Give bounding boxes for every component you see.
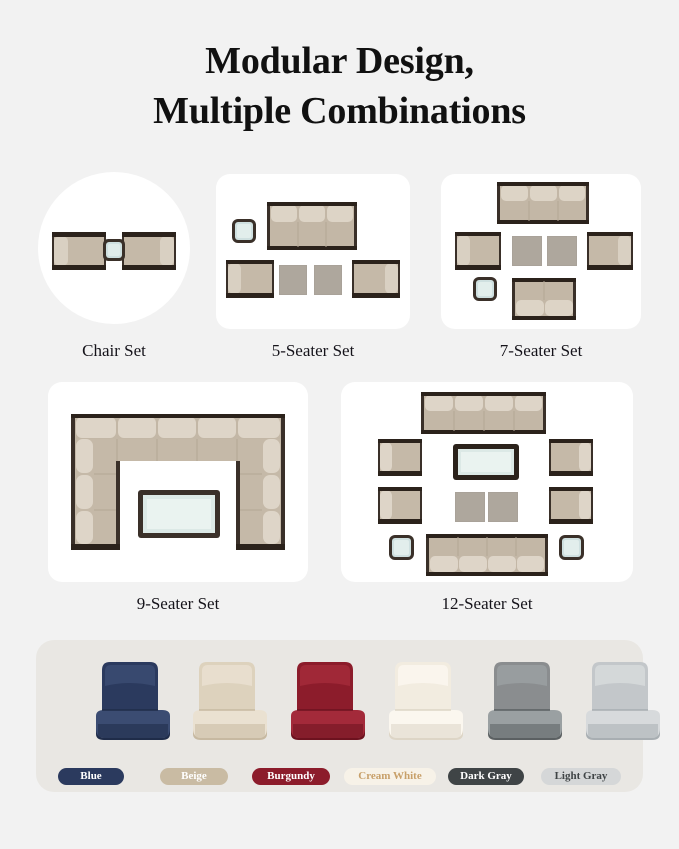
chair-left xyxy=(455,232,501,270)
config-card-12-seater[interactable] xyxy=(341,382,633,582)
ottoman-right xyxy=(314,265,342,295)
coffee-table-glass xyxy=(138,490,220,538)
config-label-12-seater: 12-Seater Set xyxy=(341,594,633,614)
config-card-9-seater[interactable] xyxy=(48,382,308,582)
seven-seater-diagram xyxy=(441,174,641,329)
cushion-label-light-gray[interactable]: Light Gray xyxy=(541,768,621,785)
chair-left xyxy=(52,232,106,270)
chair-right xyxy=(587,232,633,270)
chair-right-upper xyxy=(549,439,593,476)
ottoman-left xyxy=(512,236,542,266)
ottoman-right xyxy=(488,492,518,522)
cushion-label-dark-gray[interactable]: Dark Gray xyxy=(448,768,524,785)
cushion-swatch-beige[interactable] xyxy=(181,658,277,748)
twelve-seater-diagram xyxy=(341,382,633,582)
coffee-table-glass xyxy=(453,444,519,480)
sofa-two-seat-bottom xyxy=(512,278,576,320)
cushion-swatch-light-gray[interactable] xyxy=(574,658,670,748)
ottoman-left xyxy=(455,492,485,522)
config-label-7-seater: 7-Seater Set xyxy=(441,341,641,361)
nine-seater-diagram xyxy=(48,382,308,582)
page-title-line-1: Modular Design, xyxy=(0,36,679,86)
cushion-chair-burgundy xyxy=(279,658,375,748)
chair-right-lower xyxy=(549,487,593,524)
cushion-chair-dark-gray xyxy=(476,658,572,748)
cushion-label-burgundy[interactable]: Burgundy xyxy=(252,768,330,785)
side-table-bottom-left xyxy=(389,535,414,560)
page-title: Modular Design, Multiple Combinations xyxy=(0,36,679,136)
side-table-top-left xyxy=(232,219,256,243)
chair-set-diagram xyxy=(38,172,190,324)
chair-left-lower xyxy=(378,487,422,524)
cushion-chair-beige xyxy=(181,658,277,748)
config-label-5-seater: 5-Seater Set xyxy=(216,341,410,361)
config-card-5-seater[interactable] xyxy=(216,174,410,329)
sofa-four-seat-top xyxy=(421,392,546,434)
config-label-9-seater: 9-Seater Set xyxy=(48,594,308,614)
chair-bottom-left xyxy=(226,260,274,298)
config-card-7-seater[interactable] xyxy=(441,174,641,329)
sofa-three-seat-top xyxy=(497,182,589,224)
chair-bottom-right xyxy=(352,260,400,298)
side-table-center xyxy=(103,239,125,261)
side-table-bottom-left xyxy=(473,277,497,301)
side-table-bottom-right xyxy=(559,535,584,560)
cushion-label-beige[interactable]: Beige xyxy=(160,768,228,785)
config-label-chair-set: Chair Set xyxy=(18,341,210,361)
five-seater-diagram xyxy=(216,174,410,329)
cushion-swatch-cream-white[interactable] xyxy=(377,658,473,748)
cushion-swatch-dark-gray[interactable] xyxy=(476,658,572,748)
cushion-chair-blue xyxy=(84,658,180,748)
cushion-chair-cream-white xyxy=(377,658,473,748)
config-card-chair-set[interactable] xyxy=(38,172,190,324)
cushion-swatch-burgundy[interactable] xyxy=(279,658,375,748)
cushion-chair-light-gray xyxy=(574,658,670,748)
chair-right xyxy=(122,232,176,270)
sofa-four-seat-bottom xyxy=(426,534,548,576)
ottoman-right xyxy=(547,236,577,266)
page-title-line-2: Multiple Combinations xyxy=(0,86,679,136)
cushion-label-blue[interactable]: Blue xyxy=(58,768,124,785)
ottoman-left xyxy=(279,265,307,295)
cushion-swatch-blue[interactable] xyxy=(84,658,180,748)
chair-left-upper xyxy=(378,439,422,476)
sofa-three-seat-top xyxy=(267,202,357,250)
cushion-label-cream-white[interactable]: Cream White xyxy=(344,768,436,785)
